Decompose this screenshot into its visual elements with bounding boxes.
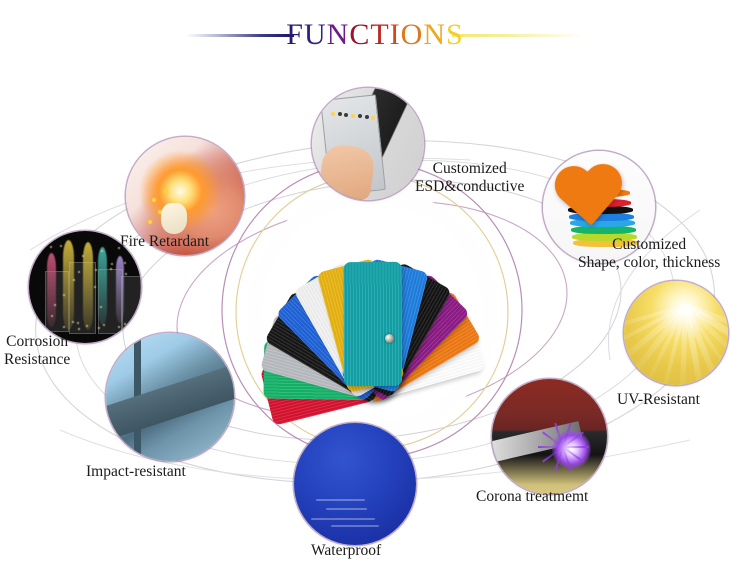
title-letter-2: N [327, 14, 350, 56]
title-letter-4: T [370, 14, 389, 56]
discharge-ray [563, 446, 588, 448]
hand [318, 143, 376, 200]
corrosion-resistance-artwork [29, 231, 141, 343]
fan-rivet-icon [385, 334, 394, 343]
title-letter-8: S [446, 14, 464, 56]
feature-label-waterproof: Waterproof [311, 541, 381, 560]
particle-dot [118, 247, 120, 249]
title-letter-0: F [286, 14, 304, 56]
feature-image-uv-resistant[interactable] [624, 281, 728, 385]
header: FUNCTIONS [0, 14, 750, 58]
water-ripple [326, 508, 367, 510]
functions-infographic: FUNCTIONS Fire RetardantCorrosionResista… [0, 0, 750, 578]
particle-dot [124, 323, 126, 325]
glass-edge-beam [106, 359, 234, 442]
feature-label-line: Waterproof [311, 541, 381, 560]
color-swatch-fan [265, 205, 480, 420]
feature-label-line: Impact-resistant [86, 462, 186, 481]
page-title: FUNCTIONS [0, 14, 750, 56]
feature-label-customized-esd-conductive: CustomizedESD&conductive [415, 160, 524, 196]
feature-label-line: Shape, color, thickness [578, 254, 720, 272]
water-ripple [311, 518, 374, 520]
indicator-led [338, 112, 342, 116]
feature-label-line: Corrosion [4, 333, 70, 351]
flame-spark-icon [152, 198, 156, 202]
particle-dot [60, 245, 62, 247]
vapor-streak [83, 242, 93, 329]
particle-dot [125, 273, 127, 275]
corona-treatment-artwork [492, 379, 607, 494]
feature-label-line: ESD&conductive [415, 178, 524, 196]
title-letter-7: N [423, 14, 446, 56]
flame-spark-icon [158, 210, 162, 214]
feature-label-line: Customized [415, 160, 524, 178]
particle-dot [95, 269, 97, 271]
feature-label-line: Customized [578, 236, 720, 254]
water-ripple [331, 525, 380, 527]
indicator-led [351, 114, 355, 118]
vapor-streak [63, 240, 74, 330]
uv-resistant-artwork [624, 281, 728, 385]
feature-image-corona-treatment[interactable] [492, 379, 607, 494]
water-ripple [316, 499, 365, 501]
particle-dot [78, 271, 80, 273]
particle-dot [86, 325, 88, 327]
particle-dot [77, 322, 79, 324]
particle-dot [63, 294, 65, 296]
flame-spark-icon [168, 224, 172, 228]
flame-spark-icon [163, 189, 167, 193]
indicator-led [371, 116, 375, 120]
feature-label-uv-resistant: UV-Resistant [617, 390, 700, 409]
particle-dot [50, 246, 52, 248]
feature-label-line: UV-Resistant [617, 390, 700, 409]
flame-spark-icon [148, 220, 152, 224]
vapor-streak [98, 247, 107, 325]
feature-label-corona-treatment: Corona treatmemt [476, 487, 588, 506]
indicator-led [331, 112, 335, 116]
title-letter-1: U [304, 14, 327, 56]
feature-image-impact-resistant[interactable] [106, 333, 234, 461]
title-letter-3: C [349, 14, 370, 56]
waterproof-artwork [294, 423, 416, 545]
feature-label-impact-resistant: Impact-resistant [86, 462, 186, 481]
particle-dot [72, 321, 74, 323]
title-letter-5: I [390, 14, 401, 56]
indicator-led [365, 115, 369, 119]
particle-dot [111, 263, 113, 265]
feature-label-customized-shape-color-thickness: CustomizedShape, color, thickness [578, 236, 720, 272]
feature-label-line: Resistance [4, 351, 70, 369]
feature-label-corrosion-resistance: CorrosionResistance [4, 333, 70, 369]
feature-image-corrosion-resistance[interactable] [29, 231, 141, 343]
feature-label-line: Corona treatmemt [476, 487, 588, 506]
particle-dot [78, 328, 80, 330]
swatch-blade [343, 262, 401, 386]
heart-top [550, 164, 628, 235]
impact-resistant-artwork [106, 333, 234, 461]
particle-dot [124, 262, 126, 264]
corrugation-texture [343, 262, 401, 386]
title-letter-6: O [401, 14, 424, 56]
feature-image-waterproof[interactable] [294, 423, 416, 545]
vapor-streak [116, 256, 124, 323]
customized-esd-conductive-artwork [312, 88, 424, 200]
feature-image-customized-esd-conductive[interactable] [312, 88, 424, 200]
